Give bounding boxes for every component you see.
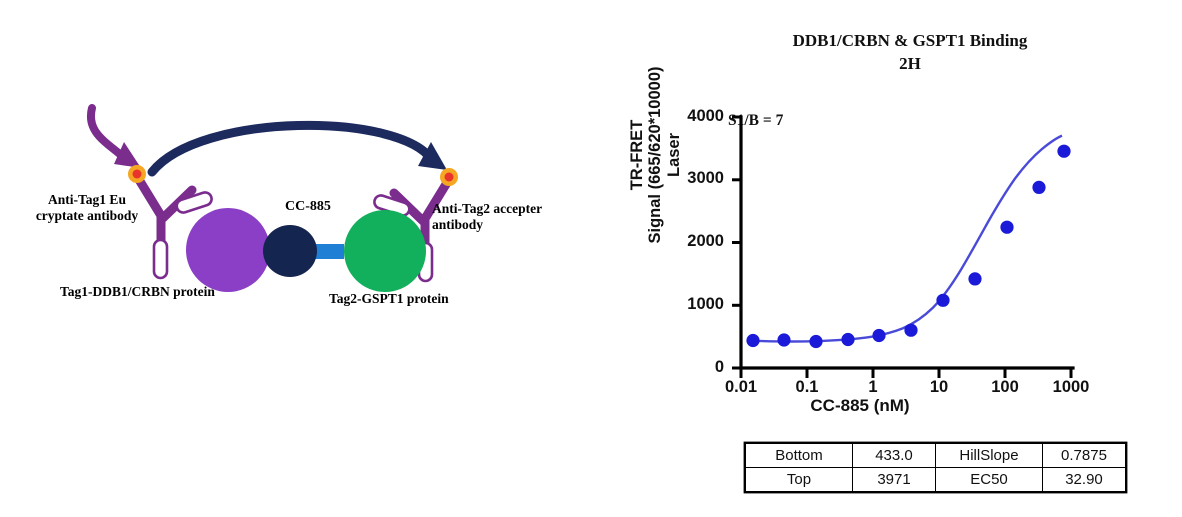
data-point: [841, 333, 854, 346]
param-value-top: 3971: [853, 468, 936, 492]
assay-schematic-panel: Anti-Tag1 Eu cryptate antibody Anti-Tag2…: [0, 0, 610, 517]
x-tick-label: 100: [970, 378, 1040, 397]
data-point: [1032, 181, 1045, 194]
data-point: [777, 333, 790, 346]
data-points: [746, 145, 1070, 349]
fitted-curve: [753, 136, 1062, 342]
fret-transfer-arrow: [152, 125, 447, 172]
anti-tag1-antibody-label: Anti-Tag1 Eu cryptate antibody: [22, 192, 152, 225]
param-name-top: Top: [746, 468, 853, 492]
param-name-bottom: Bottom: [746, 444, 853, 468]
anti-tag2-antibody-label: Anti-Tag2 accepter antibody: [432, 201, 582, 234]
gspt1-protein-circle: [344, 210, 426, 292]
ddb1-crbn-protein-label: Tag1-DDB1/CRBN protein: [60, 284, 215, 300]
cc885-compound-label: CC-885: [285, 198, 331, 215]
data-point: [1057, 145, 1070, 158]
plot-area: 0 1000 2000 3000 4000 0.01 0.1 1 10 100 …: [600, 0, 1182, 430]
param-value-bottom: 433.0: [853, 444, 936, 468]
data-point: [1000, 221, 1013, 234]
cc885-compound-ellipse: [263, 225, 317, 277]
y-tick-label: 0: [664, 358, 724, 377]
data-point: [936, 294, 949, 307]
x-tick-label: 10: [904, 378, 974, 397]
param-name-hillslope: HillSlope: [936, 444, 1043, 468]
y-tick-label: 1000: [664, 295, 724, 314]
excitation-arrow: [91, 108, 141, 168]
x-tick-label: 0.1: [772, 378, 842, 397]
acceptor-fluorophore-icon: [440, 168, 458, 186]
x-tick-label: 1000: [1036, 378, 1106, 397]
x-tick-label: 1: [838, 378, 908, 397]
fit-parameters-table: Bottom 433.0 HillSlope 0.7875 Top 3971 E…: [745, 443, 1126, 492]
x-axis-label: CC-885 (nM): [695, 396, 1025, 416]
param-value-hillslope: 0.7875: [1043, 444, 1126, 468]
data-point: [872, 329, 885, 342]
param-name-ec50: EC50: [936, 468, 1043, 492]
gspt1-protein-label: Tag2-GSPT1 protein: [329, 291, 449, 307]
param-value-ec50: 32.90: [1043, 468, 1126, 492]
data-point: [746, 334, 759, 347]
table-row: Top 3971 EC50 32.90: [746, 468, 1126, 492]
data-point: [904, 324, 917, 337]
y-tick-label: 4000: [664, 107, 724, 126]
x-tick-label: 0.01: [706, 378, 776, 397]
schematic-graphic: [0, 0, 610, 517]
y-tick-label: 3000: [664, 169, 724, 188]
table-row: Bottom 433.0 HillSlope 0.7875: [746, 444, 1126, 468]
y-tick-label: 2000: [664, 232, 724, 251]
eu-cryptate-fluorophore-icon: [128, 165, 146, 183]
ddb1-crbn-protein-circle: [186, 208, 270, 292]
dose-response-chart-panel: DDB1/CRBN & GSPT1 Binding 2H TR-FRET Sig…: [600, 0, 1182, 517]
data-point: [968, 272, 981, 285]
data-point: [809, 335, 822, 348]
